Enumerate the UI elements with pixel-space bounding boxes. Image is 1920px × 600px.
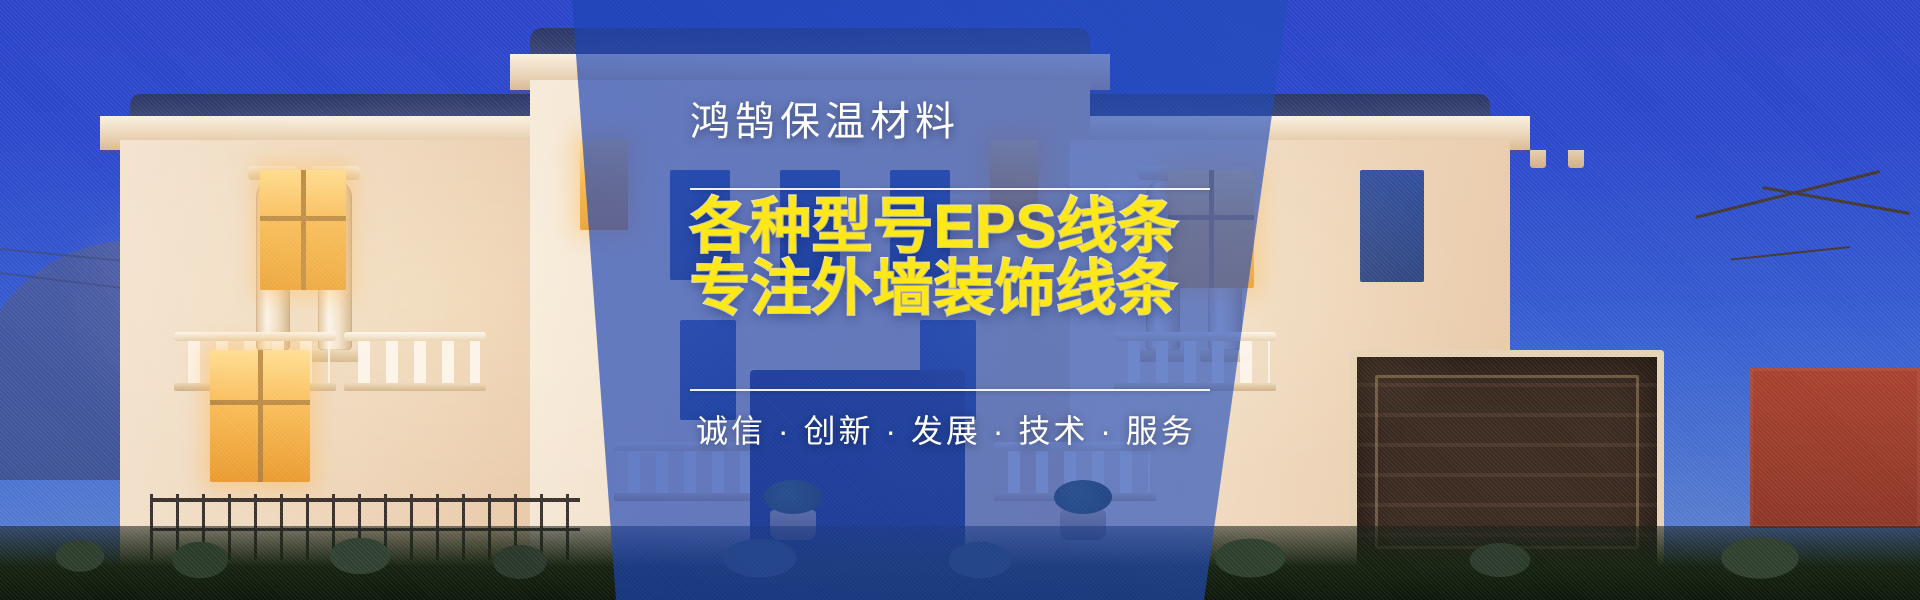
headline-line-2: 专注外墙装饰线条 (690, 258, 1178, 320)
red-container (1750, 368, 1920, 528)
banner-content: 鸿鹄保温材料 各种型号EPS线条 专注外墙装饰线条 诚信 · 创新 · 发展 ·… (690, 0, 1330, 600)
window-dark-right-a (1360, 170, 1424, 282)
roof-left (130, 94, 551, 118)
window-lit-center-a (580, 140, 628, 230)
headline-line-1: 各种型号EPS线条 (690, 196, 1179, 258)
divider-bottom (690, 389, 1210, 391)
window-lit-upper-left (260, 170, 346, 290)
divider-top (690, 188, 1210, 190)
window-lit-lower-left (210, 350, 310, 482)
hero-banner: 鸿鹄保温材料 各种型号EPS线条 专注外墙装饰线条 诚信 · 创新 · 发展 ·… (0, 0, 1920, 600)
tagline: 诚信 · 创新 · 发展 · 技术 · 服务 (696, 415, 1196, 447)
balustrade-left-upper-2 (350, 340, 480, 384)
brand-name: 鸿鹄保温材料 (690, 102, 960, 142)
